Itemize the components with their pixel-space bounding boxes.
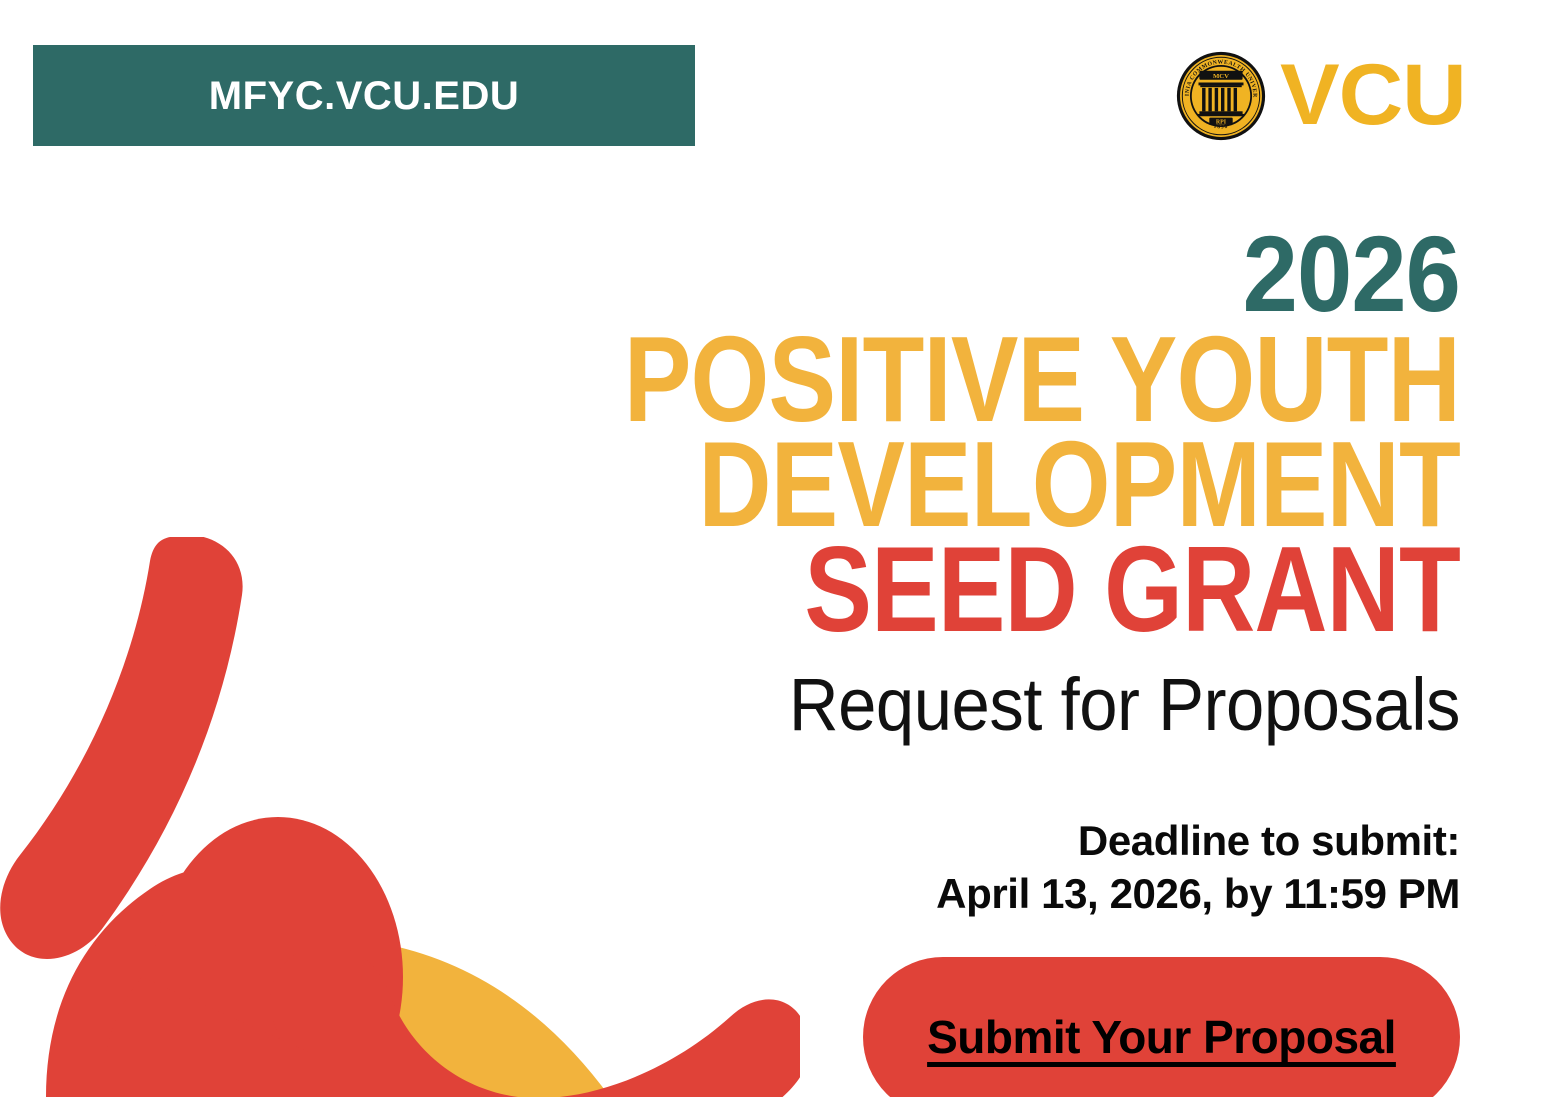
- url-badge-text: MFYC.VCU.EDU: [209, 76, 519, 116]
- poster-canvas: MFYC.VCU.EDU VIRGINIA COMMONWEALTH UNIVE…: [0, 0, 1554, 1097]
- deadline-value: April 13, 2026, by 11:59 PM: [280, 867, 1460, 921]
- headline-line-3: SEED GRANT: [481, 537, 1460, 642]
- url-badge[interactable]: MFYC.VCU.EDU: [33, 45, 695, 146]
- red-figure-left-arm: [0, 537, 242, 959]
- headline-subtitle: Request for Proposals: [363, 668, 1460, 742]
- cta-container: Submit Your Proposal: [280, 957, 1460, 1097]
- vcu-seal-icon: VIRGINIA COMMONWEALTH UNIVERSITY · 1838 …: [1176, 51, 1266, 141]
- deadline-label: Deadline to submit:: [280, 814, 1460, 868]
- seal-mcv-label: MCV: [1213, 73, 1229, 80]
- vcu-wordmark: VCU: [1280, 59, 1466, 132]
- submit-proposal-button[interactable]: Submit Your Proposal: [863, 957, 1460, 1097]
- vcu-logo: VIRGINIA COMMONWEALTH UNIVERSITY · 1838 …: [1176, 48, 1459, 144]
- deadline-block: Deadline to submit: April 13, 2026, by 1…: [280, 814, 1460, 922]
- seal-rpi-label: RPI: [1216, 120, 1227, 126]
- headline-year: 2026: [374, 228, 1460, 321]
- content-column: 2026 POSITIVE YOUTH DEVELOPMENT SEED GRA…: [280, 228, 1460, 1097]
- submit-proposal-label: Submit Your Proposal: [927, 1010, 1396, 1064]
